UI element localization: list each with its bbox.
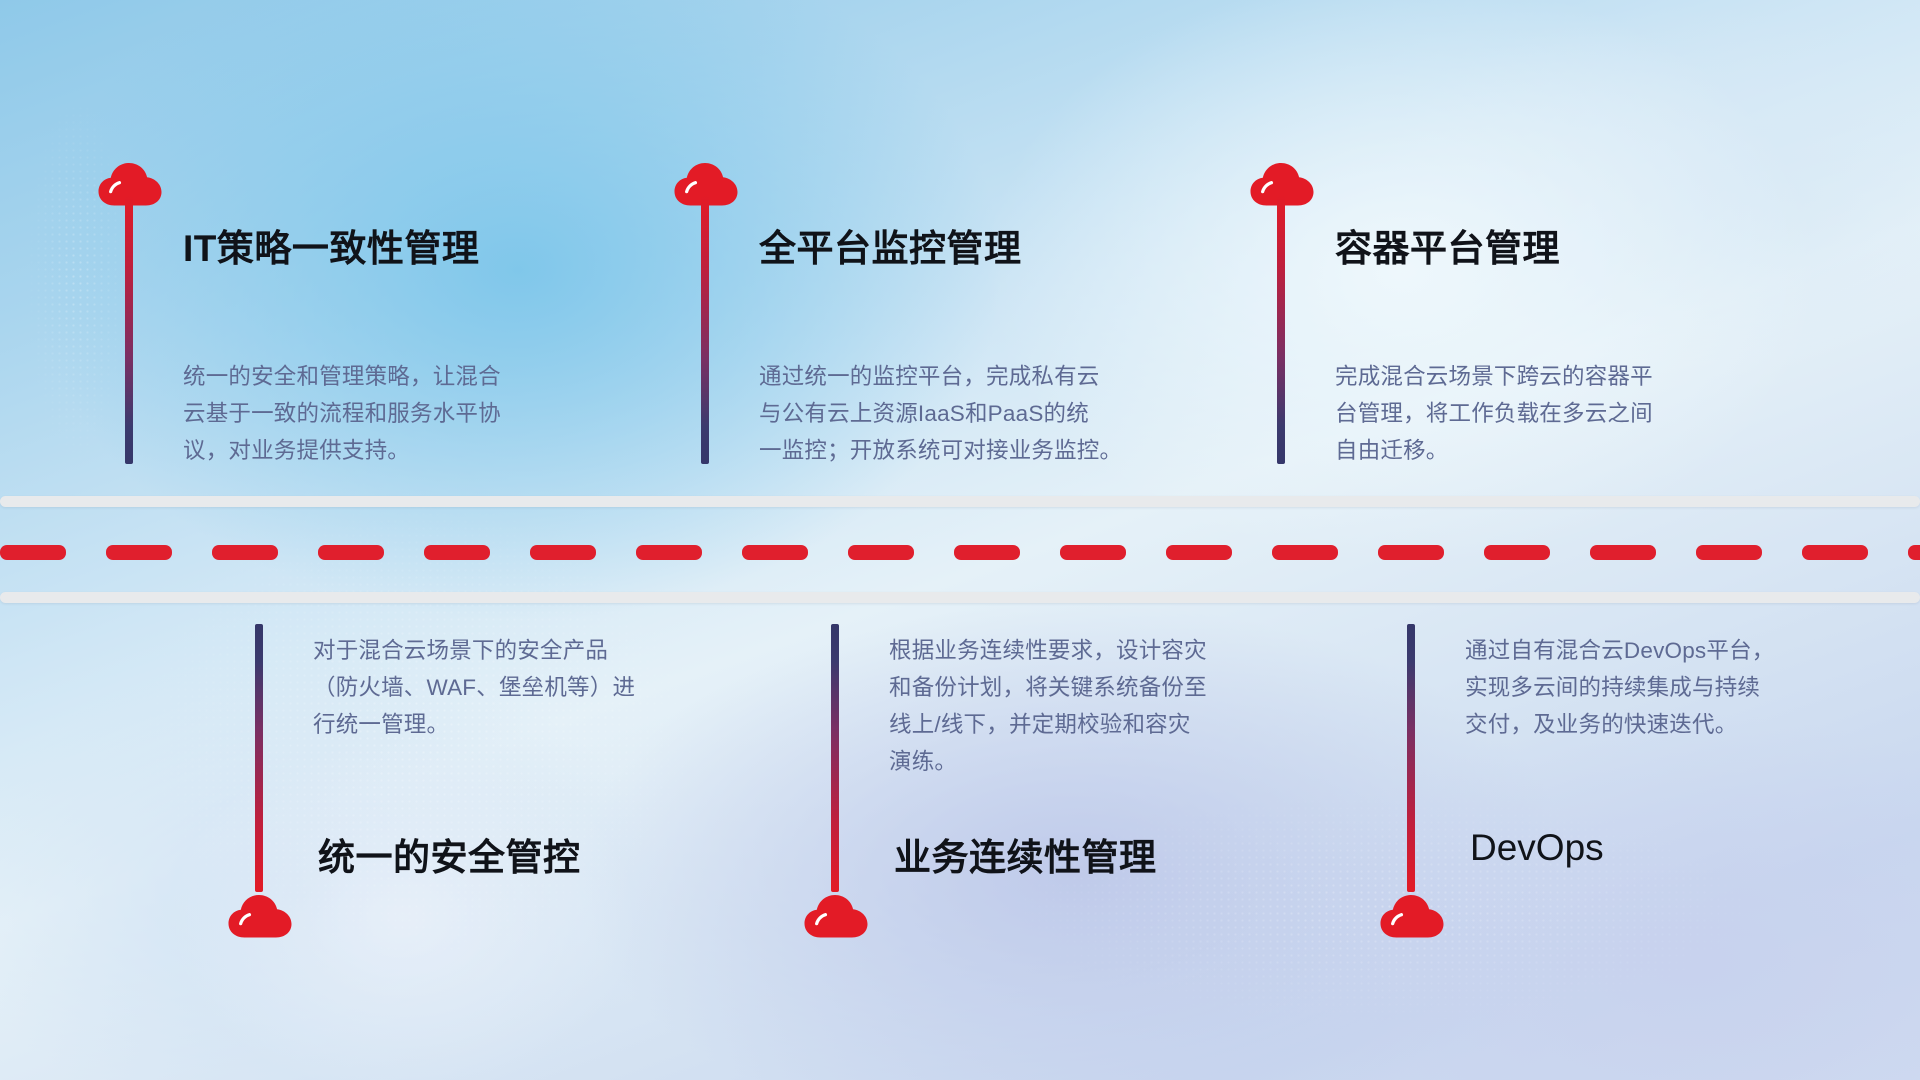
desc-line: 与公有云上资源IaaS和PaaS的统: [759, 395, 1122, 432]
road-dash: [954, 545, 1020, 560]
desc-line: 演练。: [889, 743, 1207, 780]
connector-stem: [831, 624, 839, 892]
desc-line: 对于混合云场景下的安全产品: [313, 632, 635, 669]
road-dash: [1484, 545, 1550, 560]
cloud-icon: [1379, 892, 1445, 938]
desc-line: 交付，及业务的快速迭代。: [1465, 706, 1774, 743]
desc-line: 统一的安全和管理策略，让混合: [183, 358, 501, 395]
road-dash: [530, 545, 596, 560]
bottom-item-3-title: DevOps: [1470, 827, 1604, 869]
road-dash: [0, 545, 66, 560]
road-dash: [1272, 545, 1338, 560]
desc-line: 自由迁移。: [1335, 432, 1653, 469]
road-dash: [636, 545, 702, 560]
top-item-1-description: 统一的安全和管理策略，让混合 云基于一致的流程和服务水平协 议，对业务提供支持。: [183, 358, 501, 469]
bottom-item-2-description: 根据业务连续性要求，设计容灾 和备份计划，将关键系统备份至 线上/线下，并定期校…: [889, 632, 1207, 780]
bottom-item-1-description: 对于混合云场景下的安全产品 （防火墙、WAF、堡垒机等）进 行统一管理。: [313, 632, 635, 743]
desc-line: 一监控；开放系统可对接业务监控。: [759, 432, 1122, 469]
road-dash: [1590, 545, 1656, 560]
road-dash: [1166, 545, 1232, 560]
road-dash: [1060, 545, 1126, 560]
road-dash: [1802, 545, 1868, 560]
desc-line: 台管理，将工作负载在多云之间: [1335, 395, 1653, 432]
infographic-canvas: IT策略一致性管理 统一的安全和管理策略，让混合 云基于一致的流程和服务水平协 …: [0, 0, 1920, 1080]
top-item-3-description: 完成混合云场景下跨云的容器平 台管理，将工作负载在多云之间 自由迁移。: [1335, 358, 1653, 469]
desc-line: 议，对业务提供支持。: [183, 432, 501, 469]
road-edge-top: [0, 496, 1920, 507]
top-item-2-title: 全平台监控管理: [759, 218, 1022, 272]
cloud-icon: [227, 892, 293, 938]
desc-line: 云基于一致的流程和服务水平协: [183, 395, 501, 432]
connector-stem: [1277, 196, 1285, 464]
connector-stem: [255, 624, 263, 892]
cloud-icon: [803, 892, 869, 938]
desc-line: 通过统一的监控平台，完成私有云: [759, 358, 1122, 395]
road-center-dashes: [0, 545, 1920, 560]
connector-stem: [1407, 624, 1415, 892]
desc-line: 完成混合云场景下跨云的容器平: [1335, 358, 1653, 395]
road-dash: [106, 545, 172, 560]
top-item-1-title: IT策略一致性管理: [183, 218, 479, 272]
road-dash: [848, 545, 914, 560]
road-dash: [1378, 545, 1444, 560]
desc-line: 实现多云间的持续集成与持续: [1465, 669, 1774, 706]
desc-line: 根据业务连续性要求，设计容灾: [889, 632, 1207, 669]
bottom-item-1-title: 统一的安全管控: [318, 827, 581, 881]
desc-line: （防火墙、WAF、堡垒机等）进: [313, 669, 635, 706]
desc-line: 通过自有混合云DevOps平台，: [1465, 632, 1774, 669]
road-dash: [1696, 545, 1762, 560]
road-dash: [742, 545, 808, 560]
bottom-item-3-description: 通过自有混合云DevOps平台， 实现多云间的持续集成与持续 交付，及业务的快速…: [1465, 632, 1774, 743]
desc-line: 行统一管理。: [313, 706, 635, 743]
road-dash: [424, 545, 490, 560]
road-dash: [1908, 545, 1920, 560]
top-item-3-title: 容器平台管理: [1335, 218, 1560, 272]
road-edge-bottom: [0, 592, 1920, 603]
bottom-item-2-title: 业务连续性管理: [894, 827, 1157, 881]
road-dash: [212, 545, 278, 560]
connector-stem: [701, 196, 709, 464]
connector-stem: [125, 196, 133, 464]
top-item-2-description: 通过统一的监控平台，完成私有云 与公有云上资源IaaS和PaaS的统 一监控；开…: [759, 358, 1122, 469]
desc-line: 和备份计划，将关键系统备份至: [889, 669, 1207, 706]
desc-line: 线上/线下，并定期校验和容灾: [889, 706, 1207, 743]
road-dash: [318, 545, 384, 560]
